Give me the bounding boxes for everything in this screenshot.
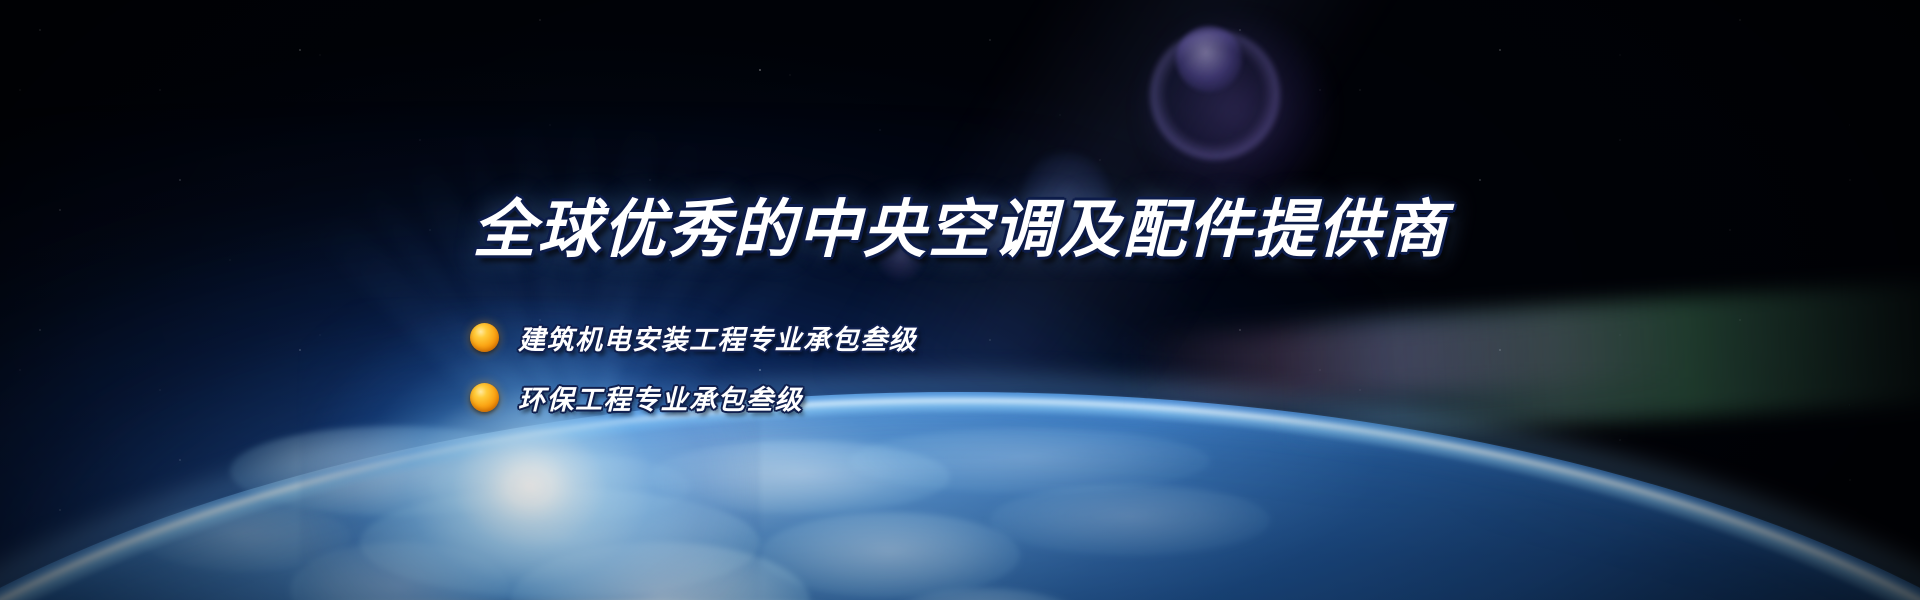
banner-bullet-list: 建筑机电安装工程专业承包叁级 环保工程专业承包叁级 xyxy=(470,313,1230,433)
bullet-dot-icon xyxy=(470,383,499,412)
list-item: 环保工程专业承包叁级 xyxy=(470,373,1230,421)
bullet-dot-icon xyxy=(470,323,499,352)
banner-content: 全球优秀的中央空调及配件提供商 建筑机电安装工程专业承包叁级 环保工程专业承包叁… xyxy=(0,0,1920,600)
bullet-label: 建筑机电安装工程专业承包叁级 xyxy=(518,318,917,357)
hero-banner: 全球优秀的中央空调及配件提供商 建筑机电安装工程专业承包叁级 环保工程专业承包叁… xyxy=(0,0,1920,600)
bullet-label: 环保工程专业承包叁级 xyxy=(518,378,803,417)
banner-headline: 全球优秀的中央空调及配件提供商 xyxy=(0,198,1920,261)
list-item: 建筑机电安装工程专业承包叁级 xyxy=(470,313,1230,361)
